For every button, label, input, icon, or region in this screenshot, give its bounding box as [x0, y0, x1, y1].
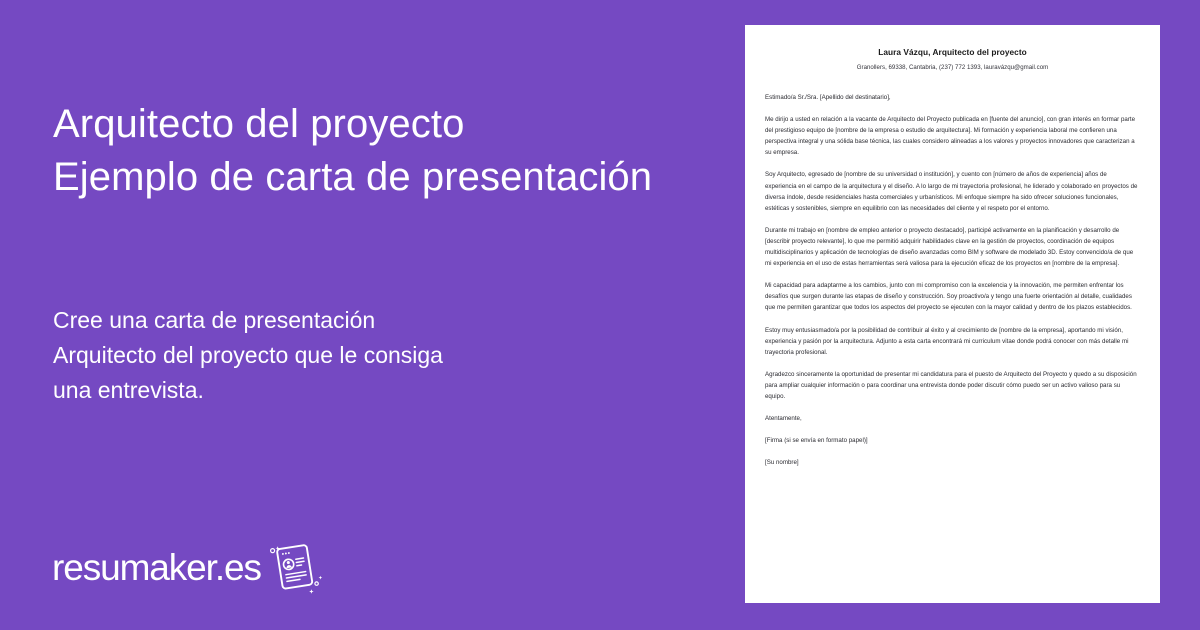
letter-paragraph: Me dirijo a usted en relación a la vacan…	[765, 114, 1140, 158]
brand-logo[interactable]: resumaker.es	[52, 536, 325, 598]
letter-name-placeholder: [Su nombre]	[765, 457, 1140, 468]
promo-subtitle: Cree una carta de presentación Arquitect…	[53, 303, 483, 408]
brand-wordmark: resumaker.es	[52, 549, 261, 586]
letter-paragraph: Durante mi trabajo en [nombre de empleo …	[765, 225, 1140, 269]
page-title: Arquitecto del proyecto Ejemplo de carta…	[53, 98, 713, 204]
letter-paragraph: Agradezco sinceramente la oportunidad de…	[765, 369, 1140, 402]
letter-header-name: Laura Vázqu, Arquitecto del proyecto	[765, 47, 1140, 57]
letter-paragraph: Soy Arquitecto, egresado de [nombre de s…	[765, 169, 1140, 213]
letter-paragraph: Mi capacidad para adaptarme a los cambio…	[765, 280, 1140, 313]
letter-paragraph: Estoy muy entusiasmado/a por la posibili…	[765, 325, 1140, 358]
letter-salutation: Estimado/a Sr./Sra. [Apellido del destin…	[765, 92, 1140, 103]
letter-closing: Atentamente,	[765, 413, 1140, 424]
letter-body: Estimado/a Sr./Sra. [Apellido del destin…	[765, 92, 1140, 468]
cover-letter-preview[interactable]: Laura Vázqu, Arquitecto del proyecto Gra…	[745, 25, 1160, 603]
promo-panel: Arquitecto del proyecto Ejemplo de carta…	[0, 0, 745, 630]
letter-content: Laura Vázqu, Arquitecto del proyecto Gra…	[745, 25, 1160, 468]
letter-signature-placeholder: [Firma (si se envía en formato papel)]	[765, 435, 1140, 446]
resume-document-icon	[263, 538, 325, 600]
letter-header-contact: Granollers, 69338, Cantabria, (237) 772 …	[765, 64, 1140, 71]
